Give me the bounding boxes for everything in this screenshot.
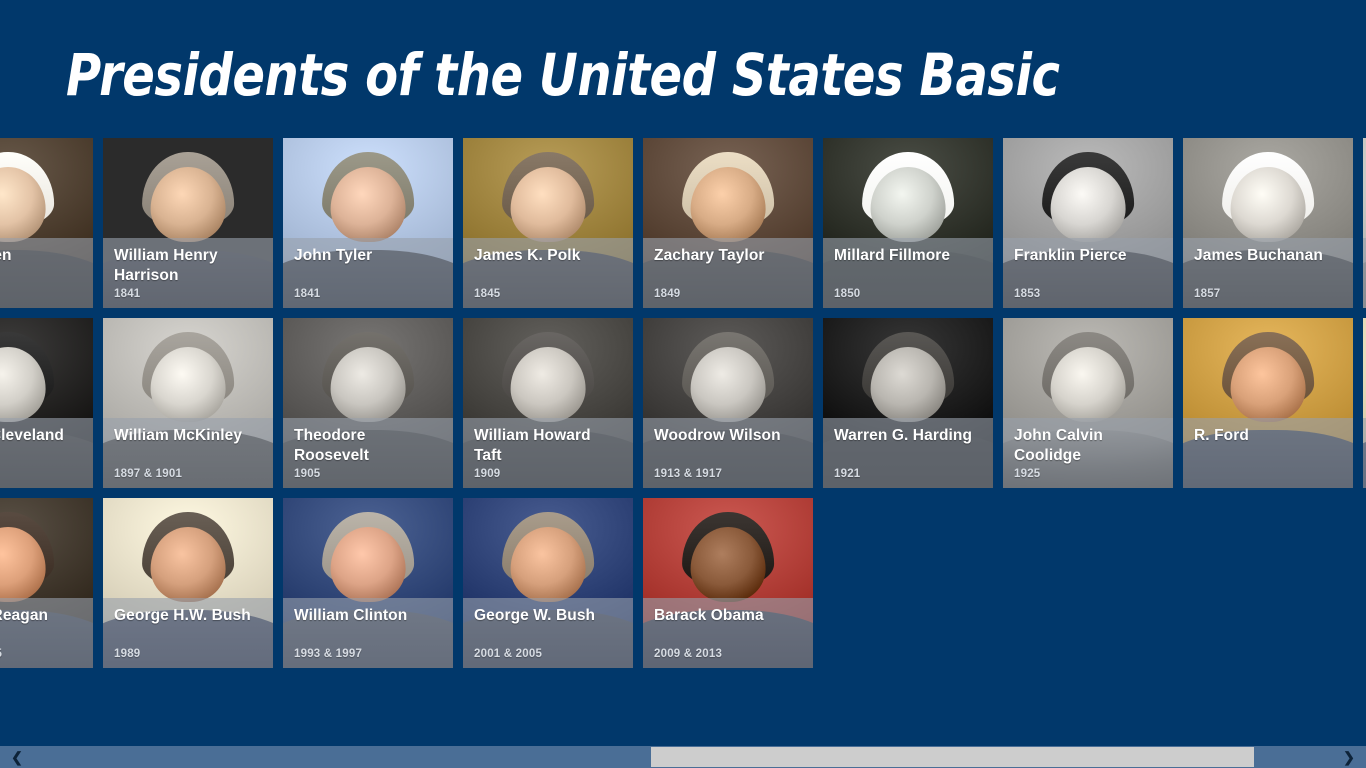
tile-president[interactable]: Zachary Taylor1849 <box>643 138 813 308</box>
tile-president-name: John Tyler <box>294 246 442 266</box>
tile-inauguration-year: 1913 & 1917 <box>654 468 722 480</box>
tile-president[interactable]: Van Buren <box>0 138 93 308</box>
app-root: Presidents of the United States Basic Va… <box>0 0 1366 768</box>
tile-president-name: Franklin Pierce <box>1014 246 1162 266</box>
tile-president-name: Woodrow Wilson <box>654 426 802 446</box>
tile-inauguration-year: 1909 <box>474 468 500 480</box>
tile-inauguration-year: 1853 <box>1014 288 1040 300</box>
tile-grid-viewport: Van BurenWilliam Henry Harrison1841John … <box>0 138 1366 698</box>
tile-president[interactable]: George H.W. Bush1989 <box>103 498 273 668</box>
tile-president[interactable]: Warren G. Harding1921 <box>823 318 993 488</box>
tile-caption: Grover Cleveland1893 <box>0 418 93 488</box>
tile-caption: Franklin Pierce1853 <box>1003 238 1173 308</box>
tile-president-name: William McKinley <box>114 426 262 446</box>
tile-caption: Zachary Taylor1849 <box>643 238 813 308</box>
tile-president[interactable]: James K. Polk1845 <box>463 138 633 308</box>
tile-president[interactable]: George W. Bush2001 & 2005 <box>463 498 633 668</box>
tile-inauguration-year: 1989 <box>114 648 140 660</box>
tile-caption: Millard Fillmore1850 <box>823 238 993 308</box>
tile-caption: William Henry Harrison1841 <box>103 238 273 308</box>
scrollbar-thumb[interactable] <box>651 747 1255 767</box>
tile-caption: William Clinton1993 & 1997 <box>283 598 453 668</box>
tile-caption: Woodrow Wilson1913 & 1917 <box>643 418 813 488</box>
tile-inauguration-year: 1841 <box>114 288 140 300</box>
tile-president-name: William Howard Taft <box>474 426 622 466</box>
tile-inauguration-year: 1849 <box>654 288 680 300</box>
tile-president-name: George W. Bush <box>474 606 622 626</box>
tile-inauguration-year: 2009 & 2013 <box>654 648 722 660</box>
tile-president[interactable]: Barack Obama2009 & 2013 <box>643 498 813 668</box>
scroll-right-chevron-icon[interactable]: ❯ <box>1332 746 1366 768</box>
tile-inauguration-year: 1897 & 1901 <box>114 468 182 480</box>
tile-caption: James K. Polk1845 <box>463 238 633 308</box>
tile-inauguration-year: 1993 & 1997 <box>294 648 362 660</box>
tile-president[interactable]: William Howard Taft1909 <box>463 318 633 488</box>
tile-inauguration-year: 1905 <box>294 468 320 480</box>
tile-president-name: Millard Fillmore <box>834 246 982 266</box>
tile-inauguration-year: 1921 <box>834 468 860 480</box>
tile-president[interactable]: Grover Cleveland1893 <box>0 318 93 488</box>
tile-inauguration-year: 1850 <box>834 288 860 300</box>
page-title: Presidents of the United States Basic <box>66 46 1059 104</box>
tile-president[interactable]: James Buchanan1857 <box>1183 138 1353 308</box>
tile-president-name: James Buchanan <box>1194 246 1342 266</box>
tile-president[interactable]: William Clinton1993 & 1997 <box>283 498 453 668</box>
tile-president[interactable]: John Tyler1841 <box>283 138 453 308</box>
tile-caption: William Howard Taft1909 <box>463 418 633 488</box>
tile-president-name: Warren G. Harding <box>834 426 982 446</box>
tile-president-name: Theodore Roosevelt <box>294 426 442 466</box>
tile-caption: George W. Bush2001 & 2005 <box>463 598 633 668</box>
tile-president-name: William Clinton <box>294 606 442 626</box>
tile-president[interactable]: Millard Fillmore1850 <box>823 138 993 308</box>
tile-president[interactable]: William McKinley1897 & 1901 <box>103 318 273 488</box>
tile-inauguration-year: 1925 <box>1014 468 1040 480</box>
tile-president[interactable]: Ronald Reagan1981 & 1985 <box>0 498 93 668</box>
tile-caption: William McKinley1897 & 1901 <box>103 418 273 488</box>
tile-president-name: Zachary Taylor <box>654 246 802 266</box>
tile-caption: Warren G. Harding1921 <box>823 418 993 488</box>
tile-caption: George H.W. Bush1989 <box>103 598 273 668</box>
tile-president-name: William Henry Harrison <box>114 246 262 286</box>
tile-caption: John Tyler1841 <box>283 238 453 308</box>
tile-president-name: George H.W. Bush <box>114 606 262 626</box>
tile-president[interactable]: Theodore Roosevelt1905 <box>283 318 453 488</box>
tile-caption: R. Ford <box>1183 418 1353 488</box>
tile-president[interactable]: Franklin Pierce1853 <box>1003 138 1173 308</box>
tile-president[interactable]: John Calvin Coolidge1925 <box>1003 318 1173 488</box>
tile-president-name: John Calvin Coolidge <box>1014 426 1162 466</box>
tile-caption: John Calvin Coolidge1925 <box>1003 418 1173 488</box>
scroll-left-chevron-icon[interactable]: ❮ <box>0 746 34 768</box>
tile-president-name: Barack Obama <box>654 606 802 626</box>
tile-inauguration-year: 2001 & 2005 <box>474 648 542 660</box>
tile-grid: Van BurenWilliam Henry Harrison1841John … <box>0 138 1366 668</box>
horizontal-scrollbar[interactable]: ❮ ❯ <box>0 746 1366 768</box>
tile-president[interactable]: Woodrow Wilson1913 & 1917 <box>643 318 813 488</box>
tile-caption: Ronald Reagan1981 & 1985 <box>0 598 93 668</box>
tile-president-name: James K. Polk <box>474 246 622 266</box>
tile-caption: Barack Obama2009 & 2013 <box>643 598 813 668</box>
tile-president-name: Ronald Reagan <box>0 606 82 626</box>
tile-president-name: Grover Cleveland <box>0 426 82 446</box>
tile-caption: Van Buren <box>0 238 93 308</box>
tile-president[interactable]: William Henry Harrison1841 <box>103 138 273 308</box>
tile-president-name: Van Buren <box>0 246 82 266</box>
scrollbar-track[interactable] <box>34 746 1332 768</box>
tile-caption: Theodore Roosevelt1905 <box>283 418 453 488</box>
tile-inauguration-year: 1845 <box>474 288 500 300</box>
tile-president-name: R. Ford <box>1194 426 1342 446</box>
tile-inauguration-year: 1857 <box>1194 288 1220 300</box>
tile-inauguration-year: 1981 & 1985 <box>0 648 2 660</box>
tile-caption: James Buchanan1857 <box>1183 238 1353 308</box>
tile-inauguration-year: 1841 <box>294 288 320 300</box>
tile-president[interactable]: R. Ford <box>1183 318 1353 488</box>
